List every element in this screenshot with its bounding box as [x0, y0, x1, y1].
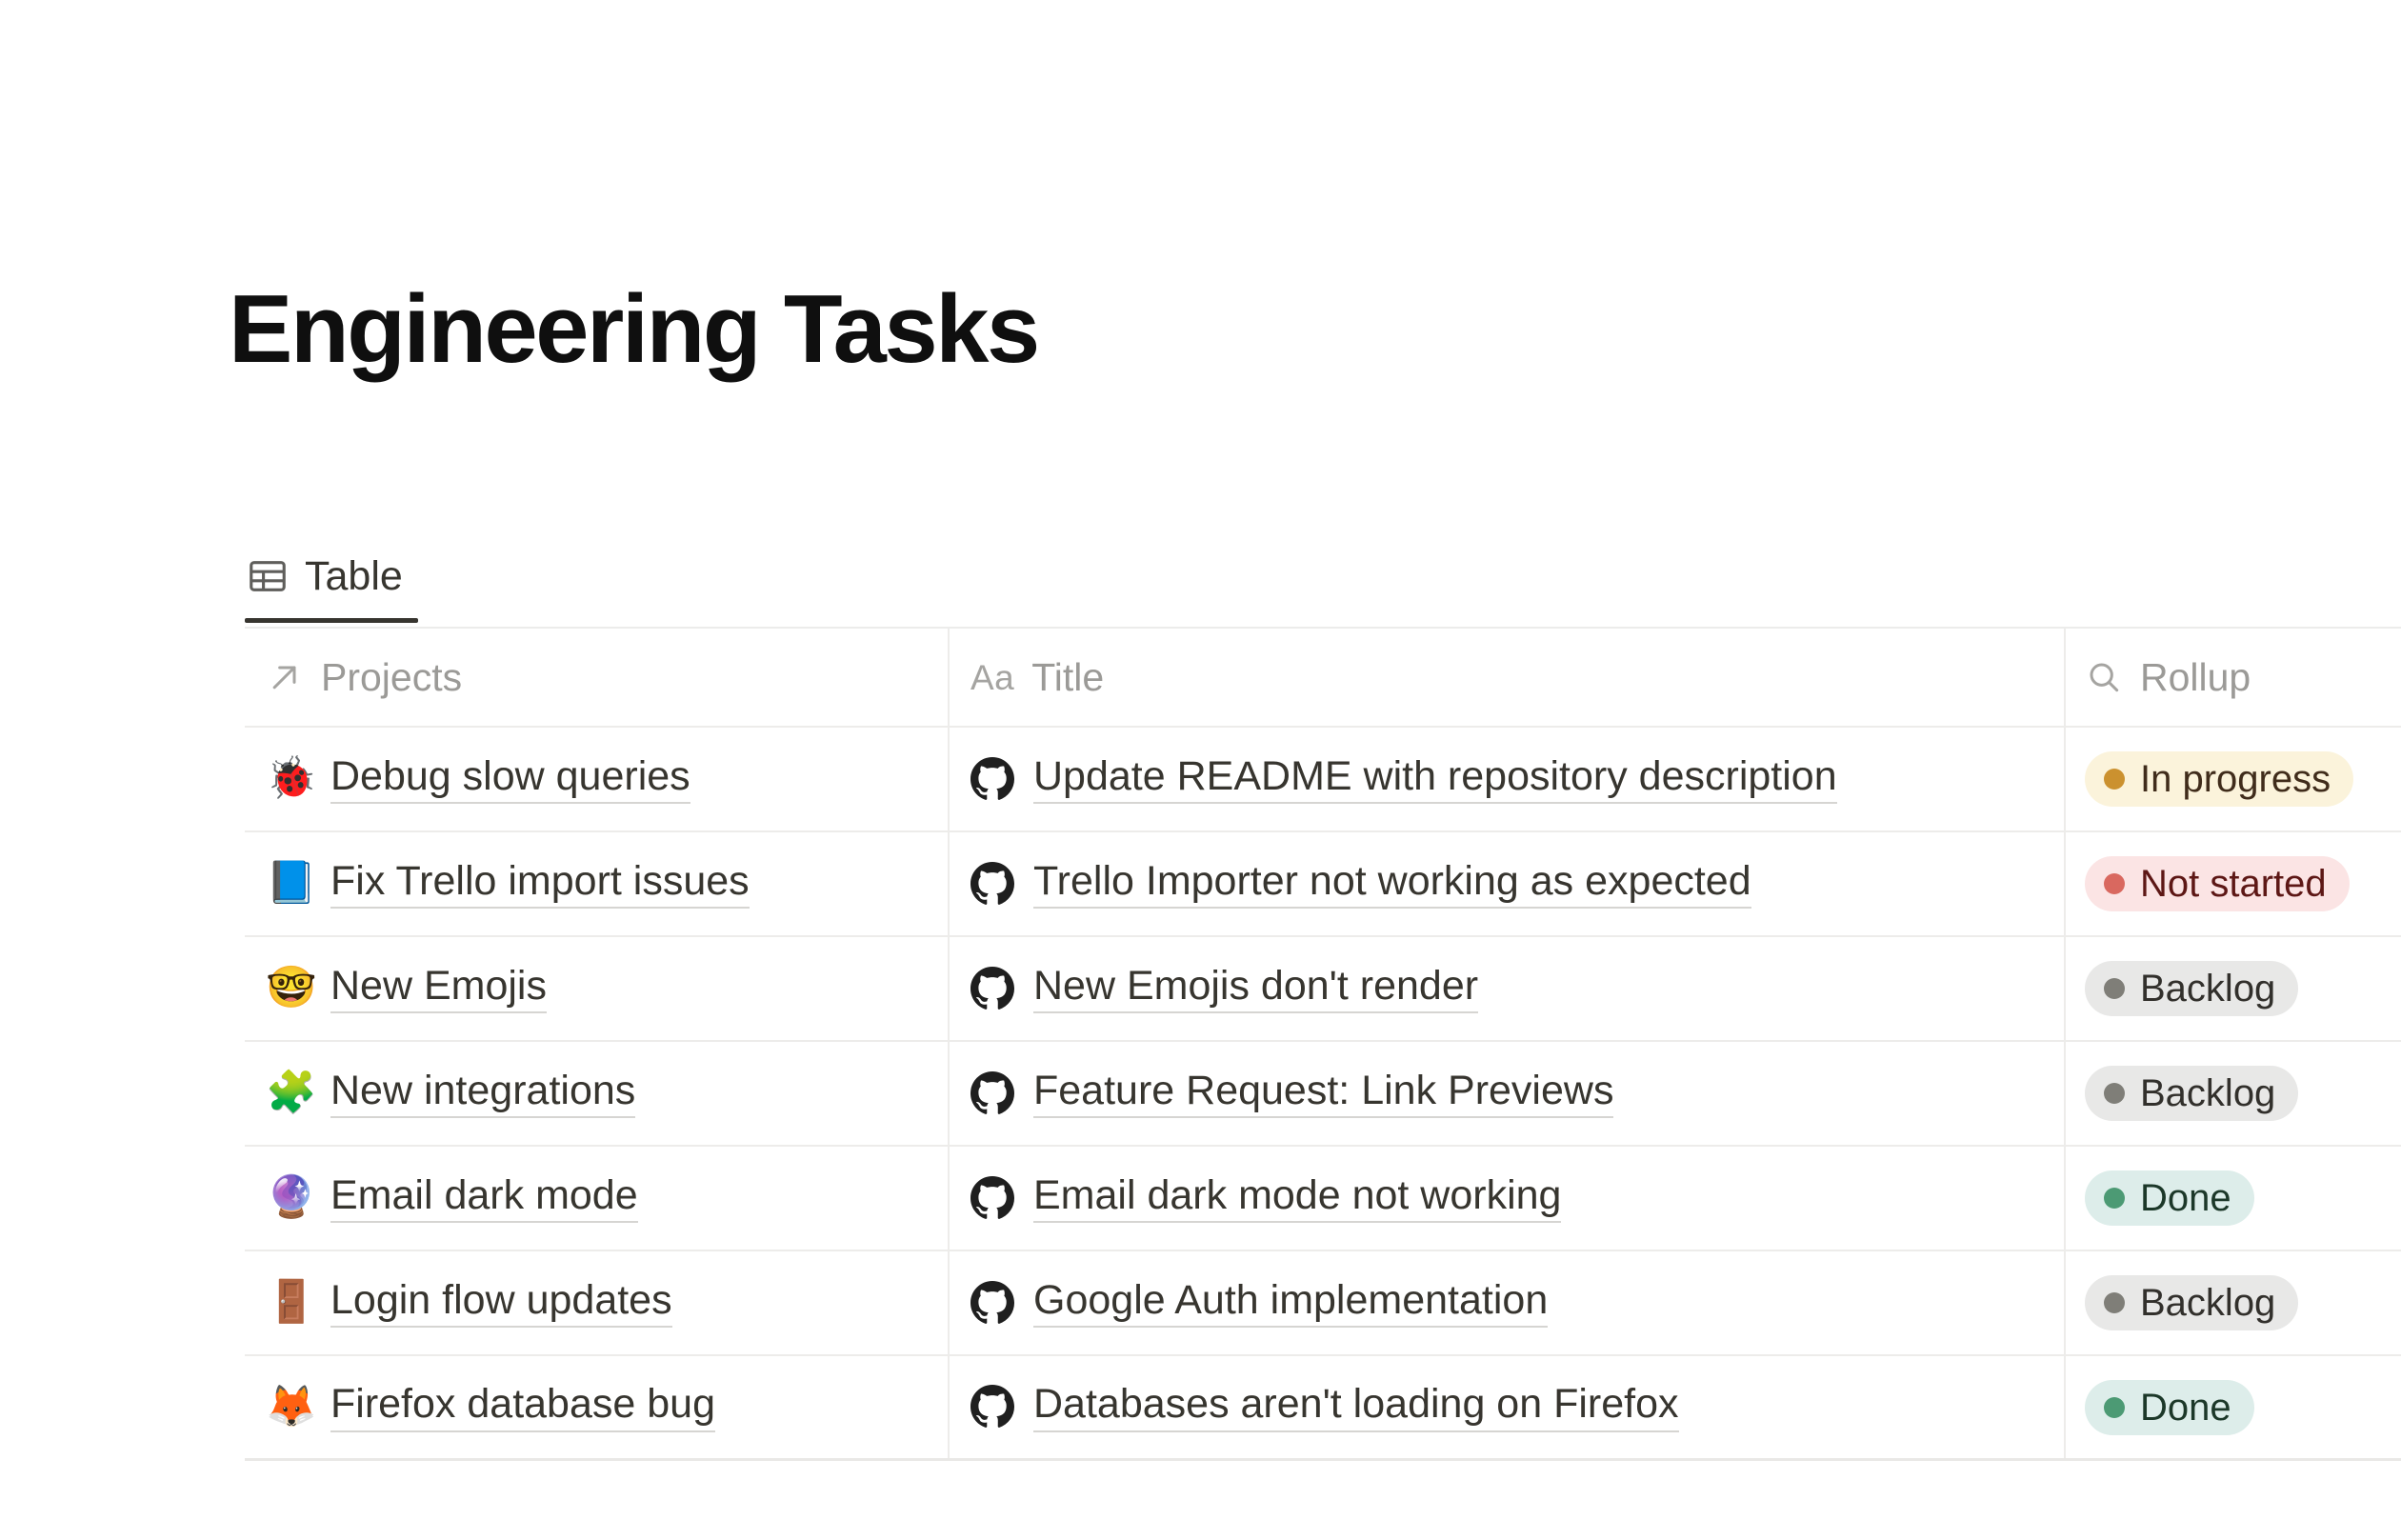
- table-row[interactable]: 📘Fix Trello import issuesTrello Importer…: [245, 832, 2401, 937]
- status-badge-label: Done: [2140, 1389, 2231, 1427]
- project-emoji-icon: 🐞: [266, 758, 311, 799]
- cell-rollup[interactable]: Backlog: [2064, 1251, 2401, 1354]
- issue-title-link[interactable]: New Emojis don't render: [1033, 964, 1478, 1013]
- status-badge-label: Backlog: [2140, 1284, 2275, 1322]
- status-badge: Backlog: [2085, 1275, 2298, 1330]
- cell-title[interactable]: Update README with repository descriptio…: [948, 728, 2064, 830]
- cell-rollup[interactable]: Done: [2064, 1147, 2401, 1250]
- view-tab-bar: Table: [245, 530, 418, 625]
- status-badge-label: In progress: [2140, 760, 2331, 798]
- table-row[interactable]: 🦊Firefox database bugDatabases aren't lo…: [245, 1356, 2401, 1461]
- cell-title[interactable]: Trello Importer not working as expected: [948, 832, 2064, 935]
- project-link[interactable]: Firefox database bug: [330, 1382, 715, 1431]
- cell-projects[interactable]: 🤓New Emojis: [245, 937, 948, 1040]
- cell-projects[interactable]: 🦊Firefox database bug: [245, 1356, 948, 1458]
- table-row[interactable]: 🤓New EmojisNew Emojis don't renderBacklo…: [245, 937, 2401, 1042]
- table-row[interactable]: 🧩New integrationsFeature Request: Link P…: [245, 1042, 2401, 1147]
- project-link[interactable]: Fix Trello import issues: [330, 859, 750, 909]
- cell-projects[interactable]: 🐞Debug slow queries: [245, 728, 948, 830]
- project-emoji-icon: 🤓: [266, 968, 311, 1009]
- github-icon: [970, 1281, 1014, 1325]
- project-emoji-icon: 🧩: [266, 1072, 311, 1113]
- table-row[interactable]: 🔮Email dark modeEmail dark mode not work…: [245, 1147, 2401, 1251]
- cell-title[interactable]: New Emojis don't render: [948, 937, 2064, 1040]
- search-icon: [2085, 658, 2123, 696]
- cell-rollup[interactable]: Not started: [2064, 832, 2401, 935]
- column-header-label: Projects: [321, 658, 462, 697]
- status-badge: Not started: [2085, 856, 2350, 911]
- project-emoji-icon: 📘: [266, 863, 311, 904]
- status-dot-icon: [2104, 1292, 2125, 1313]
- cell-rollup[interactable]: Done: [2064, 1356, 2401, 1458]
- cell-rollup[interactable]: In progress: [2064, 728, 2401, 830]
- github-icon: [970, 1385, 1014, 1429]
- status-dot-icon: [2104, 1397, 2125, 1418]
- status-badge: Done: [2085, 1170, 2254, 1226]
- cell-title[interactable]: Feature Request: Link Previews: [948, 1042, 2064, 1145]
- cell-rollup[interactable]: Backlog: [2064, 1042, 2401, 1145]
- cell-title[interactable]: Databases aren't loading on Firefox: [948, 1356, 2064, 1458]
- aa-text-icon: Aa: [970, 660, 1014, 695]
- relation-arrow-icon: [266, 658, 304, 696]
- page-title: Engineering Tasks: [229, 274, 1038, 385]
- github-icon: [970, 862, 1014, 906]
- github-icon: [970, 1071, 1014, 1115]
- cell-projects[interactable]: 📘Fix Trello import issues: [245, 832, 948, 935]
- project-link[interactable]: Login flow updates: [330, 1278, 672, 1328]
- status-badge-label: Backlog: [2140, 1074, 2275, 1112]
- status-badge: Backlog: [2085, 961, 2298, 1016]
- table-row[interactable]: 🐞Debug slow queriesUpdate README with re…: [245, 728, 2401, 832]
- issue-title-link[interactable]: Trello Importer not working as expected: [1033, 859, 1751, 909]
- status-dot-icon: [2104, 873, 2125, 894]
- status-badge-label: Not started: [2140, 865, 2327, 903]
- table-body: 🐞Debug slow queriesUpdate README with re…: [245, 728, 2401, 1461]
- status-dot-icon: [2104, 1188, 2125, 1209]
- cell-projects[interactable]: 🚪Login flow updates: [245, 1251, 948, 1354]
- issue-title-link[interactable]: Update README with repository descriptio…: [1033, 754, 1837, 804]
- column-header-projects[interactable]: Projects: [245, 629, 948, 726]
- issue-title-link[interactable]: Google Auth implementation: [1033, 1278, 1548, 1328]
- issue-title-link[interactable]: Databases aren't loading on Firefox: [1033, 1382, 1679, 1431]
- tab-label: Table: [305, 556, 403, 597]
- status-badge: Done: [2085, 1380, 2254, 1435]
- status-dot-icon: [2104, 978, 2125, 999]
- cell-title[interactable]: Email dark mode not working: [948, 1147, 2064, 1250]
- project-link[interactable]: Email dark mode: [330, 1173, 638, 1223]
- github-icon: [970, 757, 1014, 801]
- column-header-label: Title: [1031, 658, 1104, 697]
- cell-projects[interactable]: 🔮Email dark mode: [245, 1147, 948, 1250]
- project-link[interactable]: New integrations: [330, 1069, 635, 1118]
- cell-projects[interactable]: 🧩New integrations: [245, 1042, 948, 1145]
- project-link[interactable]: Debug slow queries: [330, 754, 690, 804]
- project-emoji-icon: 🦊: [266, 1387, 311, 1428]
- github-icon: [970, 967, 1014, 1010]
- project-emoji-icon: 🔮: [266, 1177, 311, 1218]
- status-badge: Backlog: [2085, 1066, 2298, 1121]
- table-header-row: Projects Aa Title Rollup: [245, 629, 2401, 728]
- table-row[interactable]: 🚪Login flow updatesGoogle Auth implement…: [245, 1251, 2401, 1356]
- status-dot-icon: [2104, 1083, 2125, 1104]
- status-badge: In progress: [2085, 751, 2353, 807]
- project-link[interactable]: New Emojis: [330, 964, 547, 1013]
- project-emoji-icon: 🚪: [266, 1282, 311, 1323]
- status-dot-icon: [2104, 769, 2125, 790]
- column-header-rollup[interactable]: Rollup: [2064, 629, 2401, 726]
- database-table: Projects Aa Title Rollup: [245, 627, 2401, 1461]
- tab-active-underline: [245, 618, 418, 623]
- github-icon: [970, 1176, 1014, 1220]
- issue-title-link[interactable]: Email dark mode not working: [1033, 1173, 1561, 1223]
- column-header-label: Rollup: [2140, 658, 2251, 697]
- status-badge-label: Done: [2140, 1179, 2231, 1217]
- table-icon: [247, 555, 289, 597]
- status-badge-label: Backlog: [2140, 970, 2275, 1008]
- issue-title-link[interactable]: Feature Request: Link Previews: [1033, 1069, 1613, 1118]
- notion-database-page: Engineering Tasks Table: [0, 0, 2401, 1540]
- cell-rollup[interactable]: Backlog: [2064, 937, 2401, 1040]
- cell-title[interactable]: Google Auth implementation: [948, 1251, 2064, 1354]
- column-header-title[interactable]: Aa Title: [948, 629, 2064, 726]
- tab-table[interactable]: Table: [245, 530, 418, 623]
